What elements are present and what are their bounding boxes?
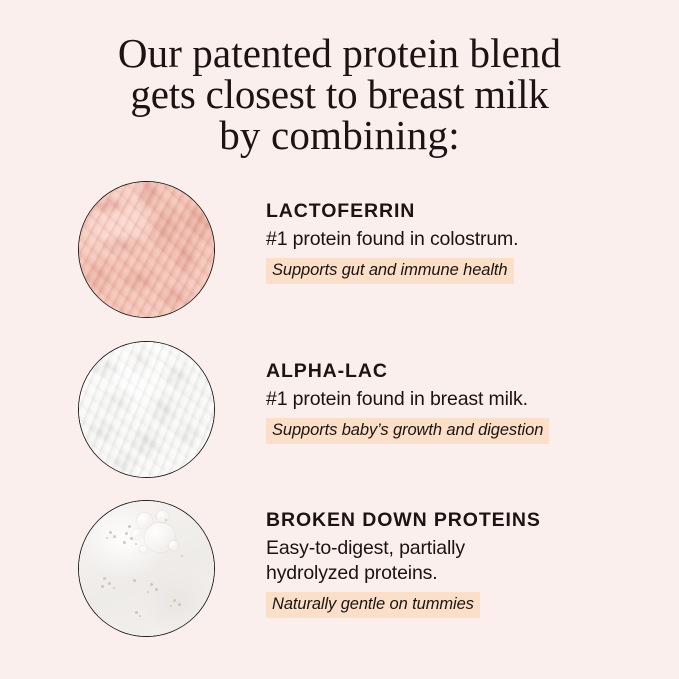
circle-border <box>78 181 215 318</box>
ingredient-title: BROKEN DOWN PROTEINS <box>266 509 666 531</box>
alpha-lac-text-block: ALPHA-LAC #1 protein found in breast mil… <box>266 360 666 444</box>
ingredient-title: LACTOFERRIN <box>266 200 666 222</box>
page-title-line-2: gets closest to breast milk <box>0 74 679 115</box>
ingredient-title: ALPHA-LAC <box>266 360 666 382</box>
lactoferrin-text-block: LACTOFERRIN #1 protein found in colostru… <box>266 200 666 284</box>
broken-down-proteins-text-block: BROKEN DOWN PROTEINS Easy-to-digest, par… <box>266 509 666 618</box>
page-title-line-3: by combining: <box>0 115 679 156</box>
description-line: hydrolyzed proteins. <box>266 561 666 586</box>
broken-down-proteins-photo <box>78 500 215 637</box>
description-line: #1 protein found in colostrum. <box>266 227 666 252</box>
broken-down-proteins-image-circle <box>78 500 215 637</box>
circle-border <box>78 500 215 637</box>
ingredient-description: Easy-to-digest, partially hydrolyzed pro… <box>266 536 666 586</box>
ingredient-description: #1 protein found in colostrum. <box>266 227 666 252</box>
ingredient-benefit-badge: Supports baby’s growth and digestion <box>266 418 549 444</box>
description-line: Easy-to-digest, partially <box>266 536 666 561</box>
infographic-page: Our patented protein blend gets closest … <box>0 0 679 679</box>
ingredient-benefit-badge: Supports gut and immune health <box>266 258 514 284</box>
ingredient-description: #1 protein found in breast milk. <box>266 387 666 412</box>
alpha-lac-powder-photo <box>78 341 215 478</box>
lactoferrin-powder-photo <box>78 181 215 318</box>
page-title-line-1: Our patented protein blend <box>0 33 679 74</box>
circle-border <box>78 341 215 478</box>
description-line: #1 protein found in breast milk. <box>266 387 666 412</box>
ingredient-benefit-badge: Naturally gentle on tummies <box>266 592 480 618</box>
droplet-overlay <box>78 500 215 637</box>
lactoferrin-image-circle <box>78 181 215 318</box>
alpha-lac-image-circle <box>78 341 215 478</box>
page-title: Our patented protein blend gets closest … <box>0 33 679 156</box>
